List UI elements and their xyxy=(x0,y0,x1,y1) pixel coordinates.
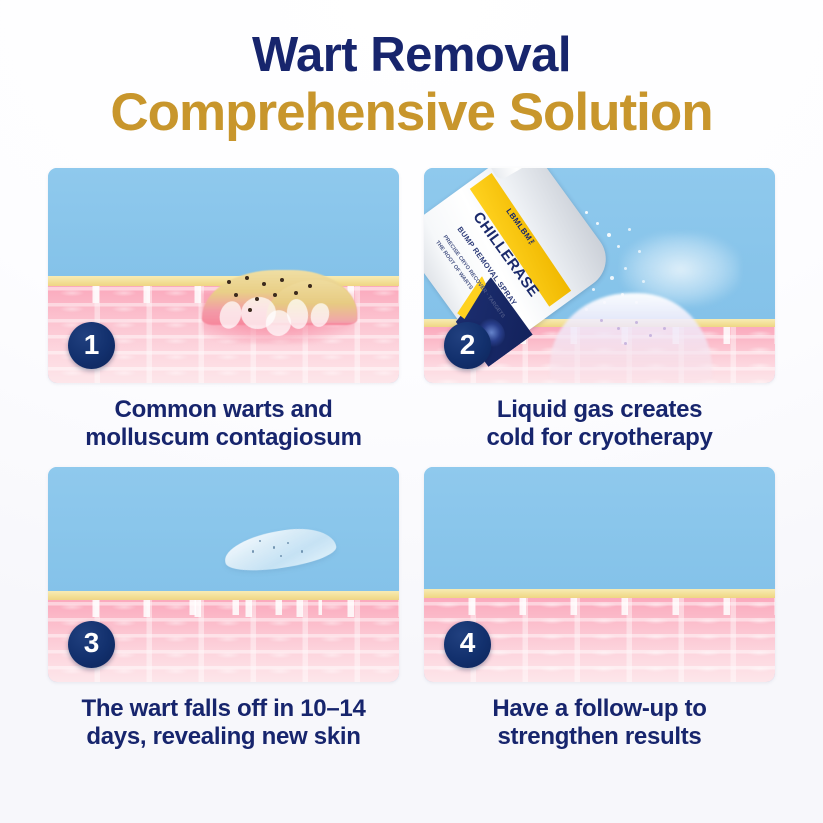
step-caption-1: Common warts and molluscum contagiosum xyxy=(48,396,399,453)
wart-dark-spot xyxy=(234,293,238,297)
sky-background xyxy=(424,467,775,594)
scab-speck xyxy=(252,550,255,553)
wart-dark-spot xyxy=(294,291,298,295)
spray-particle xyxy=(596,222,599,225)
step-card-3: 3 The wart falls off in 10–14 days, reve… xyxy=(48,467,399,752)
step-illustration-4: 4 xyxy=(424,467,775,682)
wart-dark-spot xyxy=(245,276,249,280)
frost-crystal xyxy=(649,334,652,337)
step-number-badge-3: 3 xyxy=(68,621,115,668)
step-card-2: LBMLBM™ CHILLERASE BUMP REMOVAL SPRAY PR… xyxy=(424,168,775,453)
wart-dark-spot xyxy=(273,293,277,297)
step-illustration-1: 1 xyxy=(48,168,399,383)
step-card-1: 1 Common warts and molluscum contagiosum xyxy=(48,168,399,453)
step-illustration-2: LBMLBM™ CHILLERASE BUMP REMOVAL SPRAY PR… xyxy=(424,168,775,383)
step-caption-2: Liquid gas creates cold for cryotherapy xyxy=(424,396,775,453)
sky-background xyxy=(48,467,399,596)
infographic-page: Wart Removal Comprehensive Solution xyxy=(0,0,823,823)
spray-particle xyxy=(638,250,641,253)
page-title-secondary: Comprehensive Solution xyxy=(0,83,823,142)
wart-dark-spot xyxy=(248,308,252,312)
step-number-badge-2: 2 xyxy=(444,322,491,369)
title-block: Wart Removal Comprehensive Solution xyxy=(0,0,823,143)
step-caption-4: Have a follow-up to strengthen results xyxy=(424,695,775,752)
steps-grid: 1 Common warts and molluscum contagiosum xyxy=(0,168,823,751)
page-title-primary: Wart Removal xyxy=(0,30,823,81)
spray-particle xyxy=(642,280,645,283)
step-number-badge-4: 4 xyxy=(444,621,491,668)
spray-particle xyxy=(610,276,614,280)
spray-particle xyxy=(607,233,611,237)
spray-particle xyxy=(628,228,631,231)
step-number-badge-1: 1 xyxy=(68,322,115,369)
spray-particle xyxy=(624,267,627,270)
step-illustration-3: 3 xyxy=(48,467,399,682)
wart-dark-spot xyxy=(227,280,231,284)
step-caption-3: The wart falls off in 10–14 days, reveal… xyxy=(48,695,399,752)
frost-crystal xyxy=(600,319,603,322)
frost-crystal xyxy=(663,327,666,330)
scab-speck xyxy=(273,546,276,549)
wart-dark-spot xyxy=(308,284,312,288)
frost-crystal xyxy=(635,321,638,324)
wart-dark-spot xyxy=(280,278,284,282)
step-card-4: 4 Have a follow-up to strengthen results xyxy=(424,467,775,752)
